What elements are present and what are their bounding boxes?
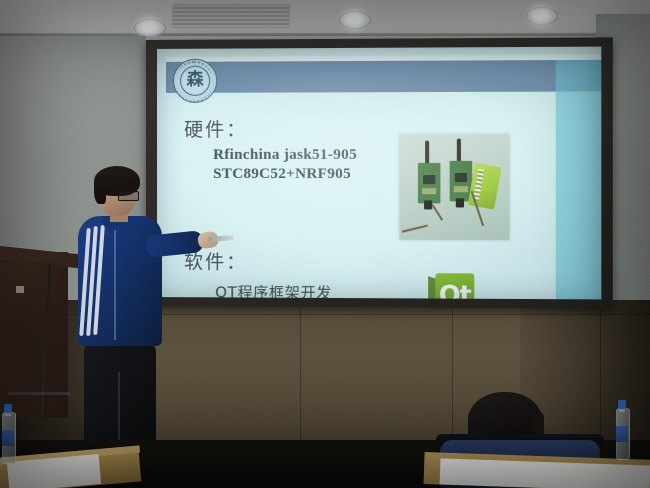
seal-glyph: 森 [187,72,204,89]
bottle-cap [4,404,12,413]
pcb-chip [423,175,435,184]
panel-seam-v [300,300,301,450]
qt-logo-text: Qt [439,280,471,300]
bottle-label [616,426,628,442]
water-bottle-right [614,396,630,458]
slide-canvas: 森 硬件： Rfinchina jask51-905 STC89C52+NRF9… [157,47,601,300]
wire-b [432,204,444,221]
ceiling-spotlight-2 [337,8,371,30]
pcb-chip [455,173,467,182]
slide-side-rail-top [556,59,602,92]
ceiling-spotlight-1 [132,16,166,38]
software-line-1: QT程序框架开发 [215,281,332,299]
pin-header-right [456,198,464,207]
pcb-pad [454,186,468,192]
antenna-left [425,141,429,165]
lecture-hall-photo: 森 硬件： Rfinchina jask51-905 STC89C52+NRF9… [0,0,650,488]
hardware-photo [400,134,510,240]
presenter [58,162,190,462]
spotlight-bulb [535,10,547,20]
hardware-heading: 硬件： [184,115,247,142]
projected-slide: 森 硬件： Rfinchina jask51-905 STC89C52+NRF9… [157,47,601,300]
hardware-line-1: Rfinchina jask51-905 [213,147,357,164]
pcb-pad [422,188,436,194]
antenna-right [457,139,461,163]
glasses-icon [118,191,139,201]
hardware-line-2: STC89C52+NRF905 [213,166,351,183]
bottle-label [2,430,14,446]
slide-header-band [166,59,601,93]
wire-a [402,224,428,232]
projector-screen-frame: 森 硬件： Rfinchina jask51-905 STC89C52+NRF9… [146,37,613,308]
slide-body: 硬件： Rfinchina jask51-905 STC89C52+NRF905… [157,96,601,300]
ceiling-spotlight-3 [524,4,558,26]
jacket-zipper [114,224,116,340]
water-bottle-left [0,400,16,462]
qt-logo: Qt [428,273,475,299]
spotlight-bulb [143,22,155,32]
pcb-module-left [418,163,441,204]
bottle-cap [618,400,626,409]
spotlight-bulb [348,14,360,24]
panel-seam-v [452,300,453,450]
qt-logo-face: Qt [435,273,474,299]
green-module [468,163,502,210]
podium-note-card [16,286,24,293]
air-vent-grille [172,4,291,28]
presenter-hair-side [94,176,106,204]
